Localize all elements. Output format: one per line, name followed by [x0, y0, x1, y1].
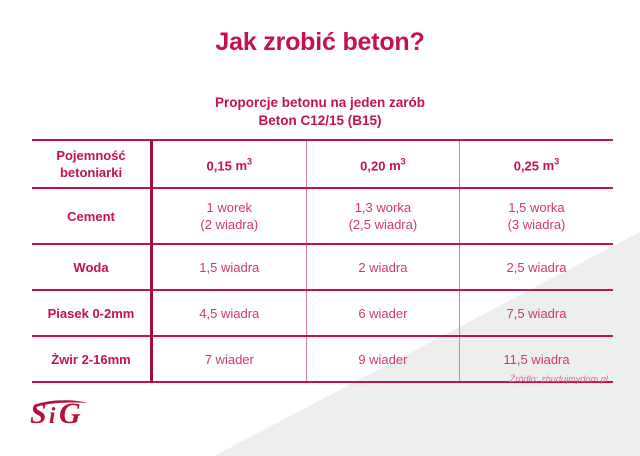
table-header-row: Pojemność betoniarki 0,15 m3 0,20 m3 0 — [32, 140, 613, 188]
table-caption: Proporcje betonu na jeden zarób Beton C1… — [0, 94, 640, 130]
cell-piasek-015: 4,5 wiadra — [152, 290, 307, 336]
logo-letter-g: G — [59, 398, 81, 430]
caption-line-2: Beton C12/15 (B15) — [0, 112, 640, 130]
cubic-superscript: 3 — [554, 157, 559, 167]
row-label-cement: Cement — [32, 188, 152, 244]
header-volume-3-value: 0,25 — [514, 158, 539, 173]
logo-letter-i: i — [49, 403, 56, 428]
table-row: Woda 1,5 wiadra 2 wiadra 2,5 wiadra — [32, 244, 613, 290]
cell-cement-015: 1 worek (2 wiadra) — [152, 188, 307, 244]
row-label-woda: Woda — [32, 244, 152, 290]
cell-main: 1,5 worka — [508, 200, 564, 215]
header-cell-volume-2: 0,20 m3 — [306, 140, 460, 188]
cell-cement-025: 1,5 worka (3 wiadra) — [460, 188, 613, 244]
sig-logo: S i G — [30, 398, 102, 430]
header-capacity-line-1: Pojemność — [56, 148, 125, 163]
header-cell-volume-3: 0,25 m3 — [460, 140, 613, 188]
header-volume-1-unit: m3 — [235, 158, 252, 173]
header-cell-volume-1: 0,15 m3 — [152, 140, 307, 188]
header-volume-1-value: 0,15 — [207, 158, 232, 173]
row-label-zwir: Żwir 2-16mm — [32, 336, 152, 382]
proportions-table-container: Pojemność betoniarki 0,15 m3 0,20 m3 0 — [32, 139, 608, 383]
source-attribution: Źródło: zbudujmydom.pl — [510, 374, 608, 384]
cell-piasek-025: 7,5 wiadra — [460, 290, 613, 336]
caption-line-1: Proporcje betonu na jeden zarób — [0, 94, 640, 112]
header-volume-3-unit: m3 — [543, 158, 560, 173]
header-capacity-line-2: betoniarki — [60, 165, 122, 180]
infographic-root: Jak zrobić beton? Proporcje betonu na je… — [0, 0, 640, 456]
cell-zwir-020: 9 wiader — [306, 336, 460, 382]
cell-woda-015: 1,5 wiadra — [152, 244, 307, 290]
header-volume-2-value: 0,20 — [360, 158, 385, 173]
header-volume-2-unit: m3 — [389, 158, 406, 173]
cell-piasek-020: 6 wiader — [306, 290, 460, 336]
table-row: Piasek 0-2mm 4,5 wiadra 6 wiader 7,5 wia… — [32, 290, 613, 336]
cubic-superscript: 3 — [401, 157, 406, 167]
header-cell-capacity: Pojemność betoniarki — [32, 140, 152, 188]
page-title: Jak zrobić beton? — [0, 28, 640, 57]
cell-main: 1 worek — [207, 200, 253, 215]
cell-cement-020: 1,3 worka (2,5 wiadra) — [306, 188, 460, 244]
cell-main: 1,3 worka — [355, 200, 411, 215]
cubic-superscript: 3 — [247, 157, 252, 167]
cell-sub: (2 wiadra) — [153, 216, 306, 233]
proportions-table: Pojemność betoniarki 0,15 m3 0,20 m3 0 — [32, 139, 613, 383]
cell-sub: (3 wiadra) — [460, 216, 613, 233]
cell-sub: (2,5 wiadra) — [307, 216, 460, 233]
cell-woda-025: 2,5 wiadra — [460, 244, 613, 290]
cell-woda-020: 2 wiadra — [306, 244, 460, 290]
row-label-piasek: Piasek 0-2mm — [32, 290, 152, 336]
cell-zwir-015: 7 wiader — [152, 336, 307, 382]
table-row: Cement 1 worek (2 wiadra) 1,3 worka (2,5… — [32, 188, 613, 244]
content-layer: Jak zrobić beton? Proporcje betonu na je… — [0, 0, 640, 456]
